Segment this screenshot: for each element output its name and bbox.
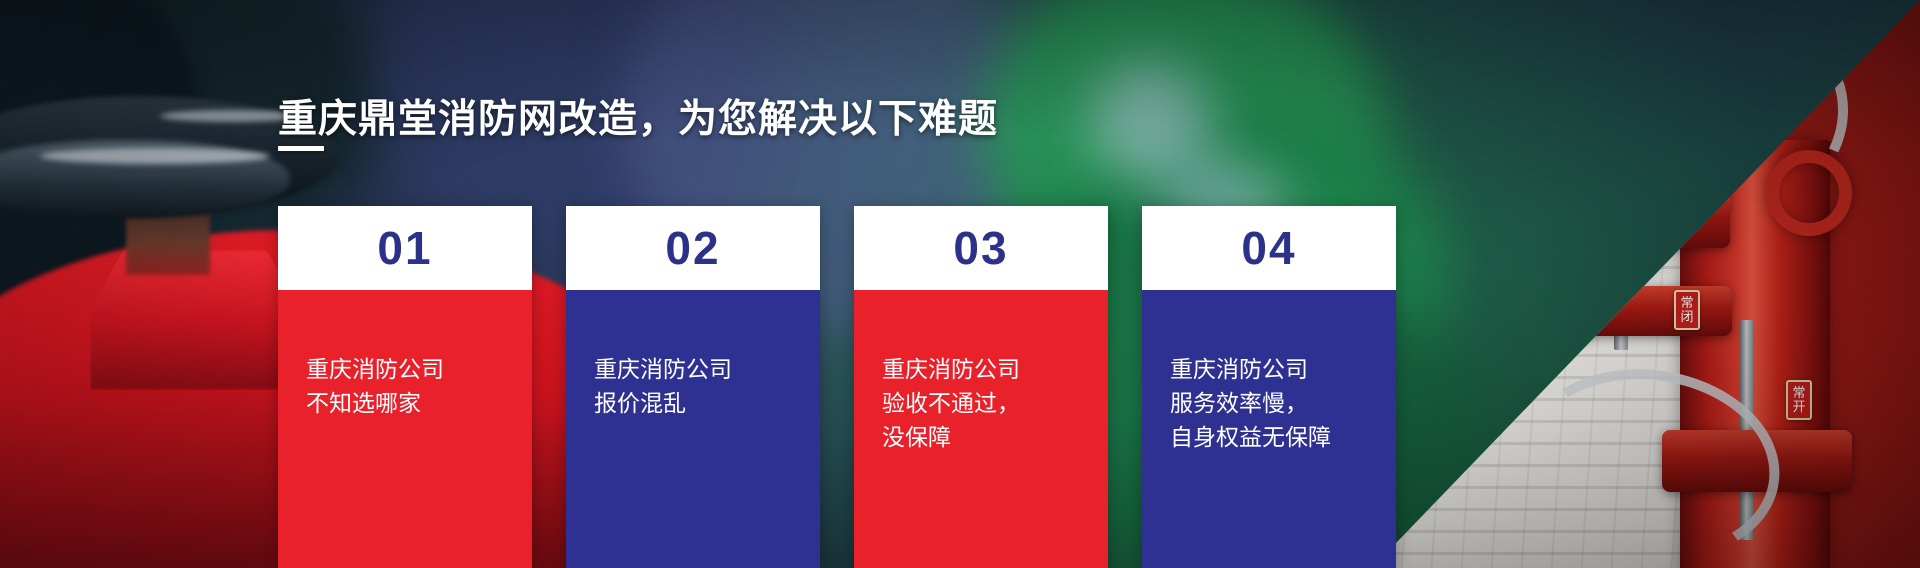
- problem-card-04-text: 重庆消防公司 服务效率慢， 自身权益无保障: [1170, 352, 1368, 454]
- problem-card-02-header: 02: [566, 206, 820, 290]
- problem-card-02-text: 重庆消防公司 报价混乱: [594, 352, 792, 420]
- problem-card-04-body: 重庆消防公司 服务效率慢， 自身权益无保障: [1142, 290, 1396, 568]
- problem-card-02-body: 重庆消防公司 报价混乱: [566, 290, 820, 568]
- problem-card-list: 01 重庆消防公司 不知选哪家 02 重庆消防公司 报价混乱 03: [278, 206, 1396, 568]
- headline-underline-rule: [278, 146, 324, 151]
- problem-card-03-header: 03: [854, 206, 1108, 290]
- banner-content: 重庆鼎堂消防网改造，为您解决以下难题 01 重庆消防公司 不知选哪家 02 重庆…: [0, 0, 1920, 568]
- promo-banner: 常 开 常 闭 常 开 重庆鼎堂消防网改造，为您解决以下难题 01 重庆消防公司…: [0, 0, 1920, 568]
- problem-card-03[interactable]: 03 重庆消防公司 验收不通过， 没保障: [854, 206, 1108, 568]
- problem-card-03-text: 重庆消防公司 验收不通过， 没保障: [882, 352, 1080, 454]
- problem-card-01-text: 重庆消防公司 不知选哪家: [306, 352, 504, 420]
- problem-card-01-number: 01: [377, 225, 432, 271]
- problem-card-01[interactable]: 01 重庆消防公司 不知选哪家: [278, 206, 532, 568]
- problem-card-02[interactable]: 02 重庆消防公司 报价混乱: [566, 206, 820, 568]
- problem-card-02-number: 02: [665, 225, 720, 271]
- problem-card-04-number: 04: [1241, 225, 1296, 271]
- problem-card-04-header: 04: [1142, 206, 1396, 290]
- banner-headline: 重庆鼎堂消防网改造，为您解决以下难题: [278, 88, 998, 144]
- problem-card-03-number: 03: [953, 225, 1008, 271]
- problem-card-03-body: 重庆消防公司 验收不通过， 没保障: [854, 290, 1108, 568]
- problem-card-04[interactable]: 04 重庆消防公司 服务效率慢， 自身权益无保障: [1142, 206, 1396, 568]
- problem-card-01-header: 01: [278, 206, 532, 290]
- problem-card-01-body: 重庆消防公司 不知选哪家: [278, 290, 532, 568]
